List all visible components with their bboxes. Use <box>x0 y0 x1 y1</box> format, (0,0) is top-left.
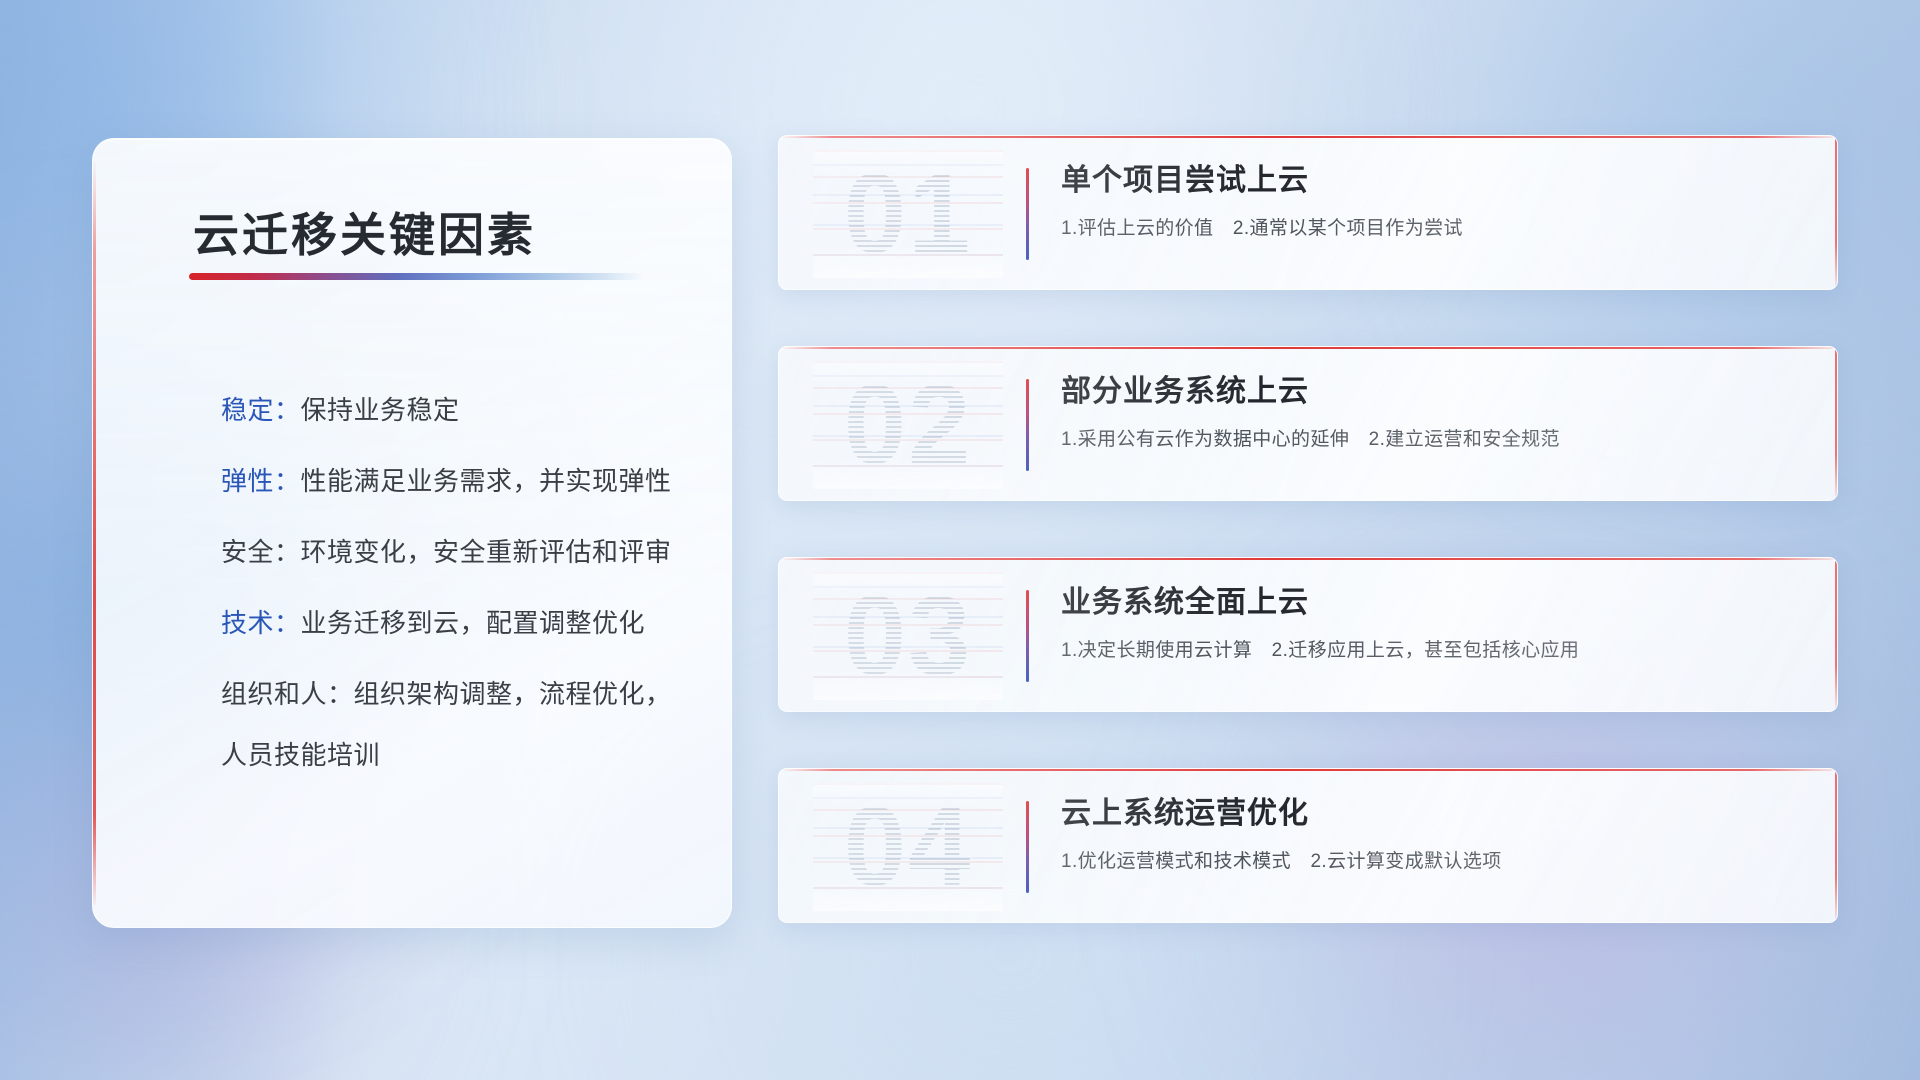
card-subtitle: 1.优化运营模式和技术模式 2.云计算变成默认选项 <box>1061 849 1807 876</box>
list-item: 稳定：保持业务稳定 <box>221 391 691 430</box>
step-number-watermark: 04 <box>813 783 1003 911</box>
card-title: 部分业务系统上云 <box>1061 373 1807 411</box>
card-right-accent <box>1835 558 1837 711</box>
card-body: 云上系统运营优化 1.优化运营模式和技术模式 2.云计算变成默认选项 <box>1061 795 1807 875</box>
page-title: 云迁移关键因素 <box>193 199 536 265</box>
migration-steps-list: 01 单个项目尝试上云 1.评估上云的价值 2.通常以某个项目作为尝试 02 部… <box>778 135 1838 923</box>
factor-value: 人员技能培训 <box>221 740 380 770</box>
card-subtitle: 1.决定长期使用云计算 2.迁移应用上云，甚至包括核心应用 <box>1061 638 1807 665</box>
list-item: 组织和人：组织架构调整，流程优化， <box>221 675 691 714</box>
card-body: 业务系统全面上云 1.决定长期使用云计算 2.迁移应用上云，甚至包括核心应用 <box>1061 584 1807 664</box>
card-divider-accent <box>1026 801 1029 893</box>
factor-value: 环境变化，安全重新评估和评审 <box>301 537 672 567</box>
factor-key: 组织和人： <box>221 679 354 709</box>
card-body: 部分业务系统上云 1.采用公有云作为数据中心的延伸 2.建立运营和安全规范 <box>1061 373 1807 453</box>
card-right-accent <box>1835 769 1837 922</box>
card-subtitle: 1.评估上云的价值 2.通常以某个项目作为尝试 <box>1061 216 1807 243</box>
list-item: 弹性：性能满足业务需求，并实现弹性 <box>221 462 691 501</box>
factor-value: 业务迁移到云，配置调整优化 <box>301 608 646 638</box>
step-number-watermark: 03 <box>813 572 1003 700</box>
card-divider-accent <box>1026 168 1029 260</box>
factor-key: 技术： <box>221 608 301 638</box>
factor-key: 弹性： <box>221 466 301 496</box>
card-title: 云上系统运营优化 <box>1061 795 1807 833</box>
step-number-watermark: 02 <box>813 361 1003 489</box>
key-factors-list: 稳定：保持业务稳定 弹性：性能满足业务需求，并实现弹性 安全：环境变化，安全重新… <box>221 391 691 775</box>
card-body: 单个项目尝试上云 1.评估上云的价值 2.通常以某个项目作为尝试 <box>1061 162 1807 242</box>
list-item: 技术：业务迁移到云，配置调整优化 <box>221 604 691 643</box>
step-card-01[interactable]: 01 单个项目尝试上云 1.评估上云的价值 2.通常以某个项目作为尝试 <box>778 135 1838 290</box>
card-right-accent <box>1835 347 1837 500</box>
card-divider-accent <box>1026 590 1029 682</box>
key-factors-panel: 云迁移关键因素 稳定：保持业务稳定 弹性：性能满足业务需求，并实现弹性 安全：环… <box>92 138 732 928</box>
factor-key: 稳定： <box>221 395 301 425</box>
card-divider-accent <box>1026 379 1029 471</box>
title-underline-accent <box>189 273 644 280</box>
step-number-watermark: 01 <box>813 150 1003 278</box>
step-card-02[interactable]: 02 部分业务系统上云 1.采用公有云作为数据中心的延伸 2.建立运营和安全规范 <box>778 346 1838 501</box>
card-right-accent <box>1835 136 1837 289</box>
factor-key: 安全： <box>221 537 301 567</box>
card-title: 单个项目尝试上云 <box>1061 162 1807 200</box>
list-item: 安全：环境变化，安全重新评估和评审 <box>221 533 691 572</box>
card-top-accent <box>779 136 1837 138</box>
card-title: 业务系统全面上云 <box>1061 584 1807 622</box>
factor-value: 性能满足业务需求，并实现弹性 <box>301 466 672 496</box>
factor-value: 组织架构调整，流程优化， <box>354 679 672 709</box>
step-card-04[interactable]: 04 云上系统运营优化 1.优化运营模式和技术模式 2.云计算变成默认选项 <box>778 768 1838 923</box>
list-item: 人员技能培训 <box>221 736 691 775</box>
card-top-accent <box>779 769 1837 771</box>
card-top-accent <box>779 558 1837 560</box>
card-subtitle: 1.采用公有云作为数据中心的延伸 2.建立运营和安全规范 <box>1061 427 1807 454</box>
slide-stage: 云迁移关键因素 稳定：保持业务稳定 弹性：性能满足业务需求，并实现弹性 安全：环… <box>0 0 1920 1080</box>
step-card-03[interactable]: 03 业务系统全面上云 1.决定长期使用云计算 2.迁移应用上云，甚至包括核心应… <box>778 557 1838 712</box>
card-top-accent <box>779 347 1837 349</box>
factor-value: 保持业务稳定 <box>301 395 460 425</box>
